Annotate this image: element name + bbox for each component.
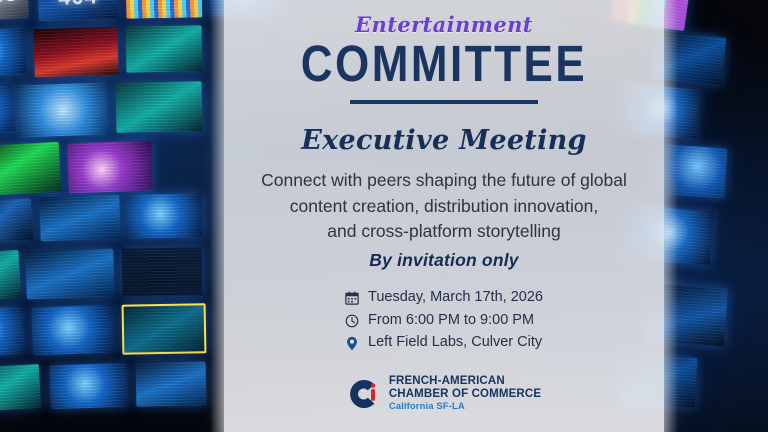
event-poster: NEWS404 Entertainment COMMITTEE Executiv…: [0, 0, 768, 432]
background-screen: [121, 303, 206, 354]
background-screen: [0, 28, 27, 79]
background-screen: [0, 198, 33, 244]
background-screen: [0, 364, 41, 412]
description-line-2: content creation, distribution innovatio…: [244, 194, 644, 220]
detail-text: Tuesday, March 17th, 2026: [368, 288, 543, 308]
background-screen: [126, 193, 203, 238]
screen-label: 404: [37, 0, 119, 21]
background-screen: [115, 81, 202, 132]
content-panel: Entertainment COMMITTEE Executive Meetin…: [224, 0, 664, 432]
logo-line-1: FRENCH-AMERICAN: [389, 375, 541, 388]
background-screen: [39, 195, 120, 242]
background-screen: NEWS: [0, 0, 29, 22]
poster-description: Connect with peers shaping the future of…: [244, 168, 644, 245]
title-underline-rule: [350, 100, 538, 104]
event-details-list: Tuesday, March 17th, 2026From 6:00 PM to…: [345, 288, 543, 353]
detail-row: Left Field Labs, Culver City: [345, 333, 542, 353]
cci-monogram-icon: [347, 377, 381, 411]
background-screen: [49, 363, 128, 410]
background-screen: [0, 250, 22, 302]
detail-text: From 6:00 PM to 9:00 PM: [368, 311, 534, 331]
background-screen: [0, 306, 26, 359]
background-screen: [0, 84, 16, 137]
background-screen: [17, 83, 109, 138]
background-screen: [67, 141, 153, 194]
detail-row: Tuesday, March 17th, 2026: [345, 288, 543, 308]
logo-line-3: California SF-LA: [389, 402, 541, 413]
detail-text: Left Field Labs, Culver City: [368, 333, 542, 353]
organization-logo: FRENCH-AMERICAN CHAMBER OF COMMERCE Cali…: [347, 375, 541, 412]
logo-line-2: CHAMBER OF COMMERCE: [389, 388, 541, 401]
description-line-3: and cross-platform storytelling: [244, 219, 644, 245]
background-screen: [31, 305, 115, 356]
logo-text-block: FRENCH-AMERICAN CHAMBER OF COMMERCE Cali…: [389, 375, 541, 412]
background-screen: 404: [37, 0, 119, 21]
description-line-1: Connect with peers shaping the future of…: [244, 168, 644, 194]
poster-wordmark: COMMITTEE: [301, 39, 587, 90]
invitation-note: By invitation only: [369, 250, 518, 271]
background-screen: [126, 25, 203, 72]
background-screen: [25, 249, 115, 300]
poster-subtitle: Executive Meeting: [301, 127, 587, 154]
calendar-icon: [345, 290, 359, 305]
poster-kicker: Entertainment: [355, 14, 533, 35]
background-screen: [136, 361, 207, 406]
background-screen: [122, 247, 203, 296]
background-screen: [33, 27, 119, 78]
background-screen: [126, 0, 203, 19]
screen-label: NEWS: [0, 0, 29, 22]
clock-icon: [345, 313, 359, 328]
background-screen: [0, 142, 61, 196]
content-stack: Entertainment COMMITTEE Executive Meetin…: [224, 0, 664, 412]
detail-row: From 6:00 PM to 9:00 PM: [345, 311, 534, 331]
location-pin-icon: [345, 336, 359, 351]
